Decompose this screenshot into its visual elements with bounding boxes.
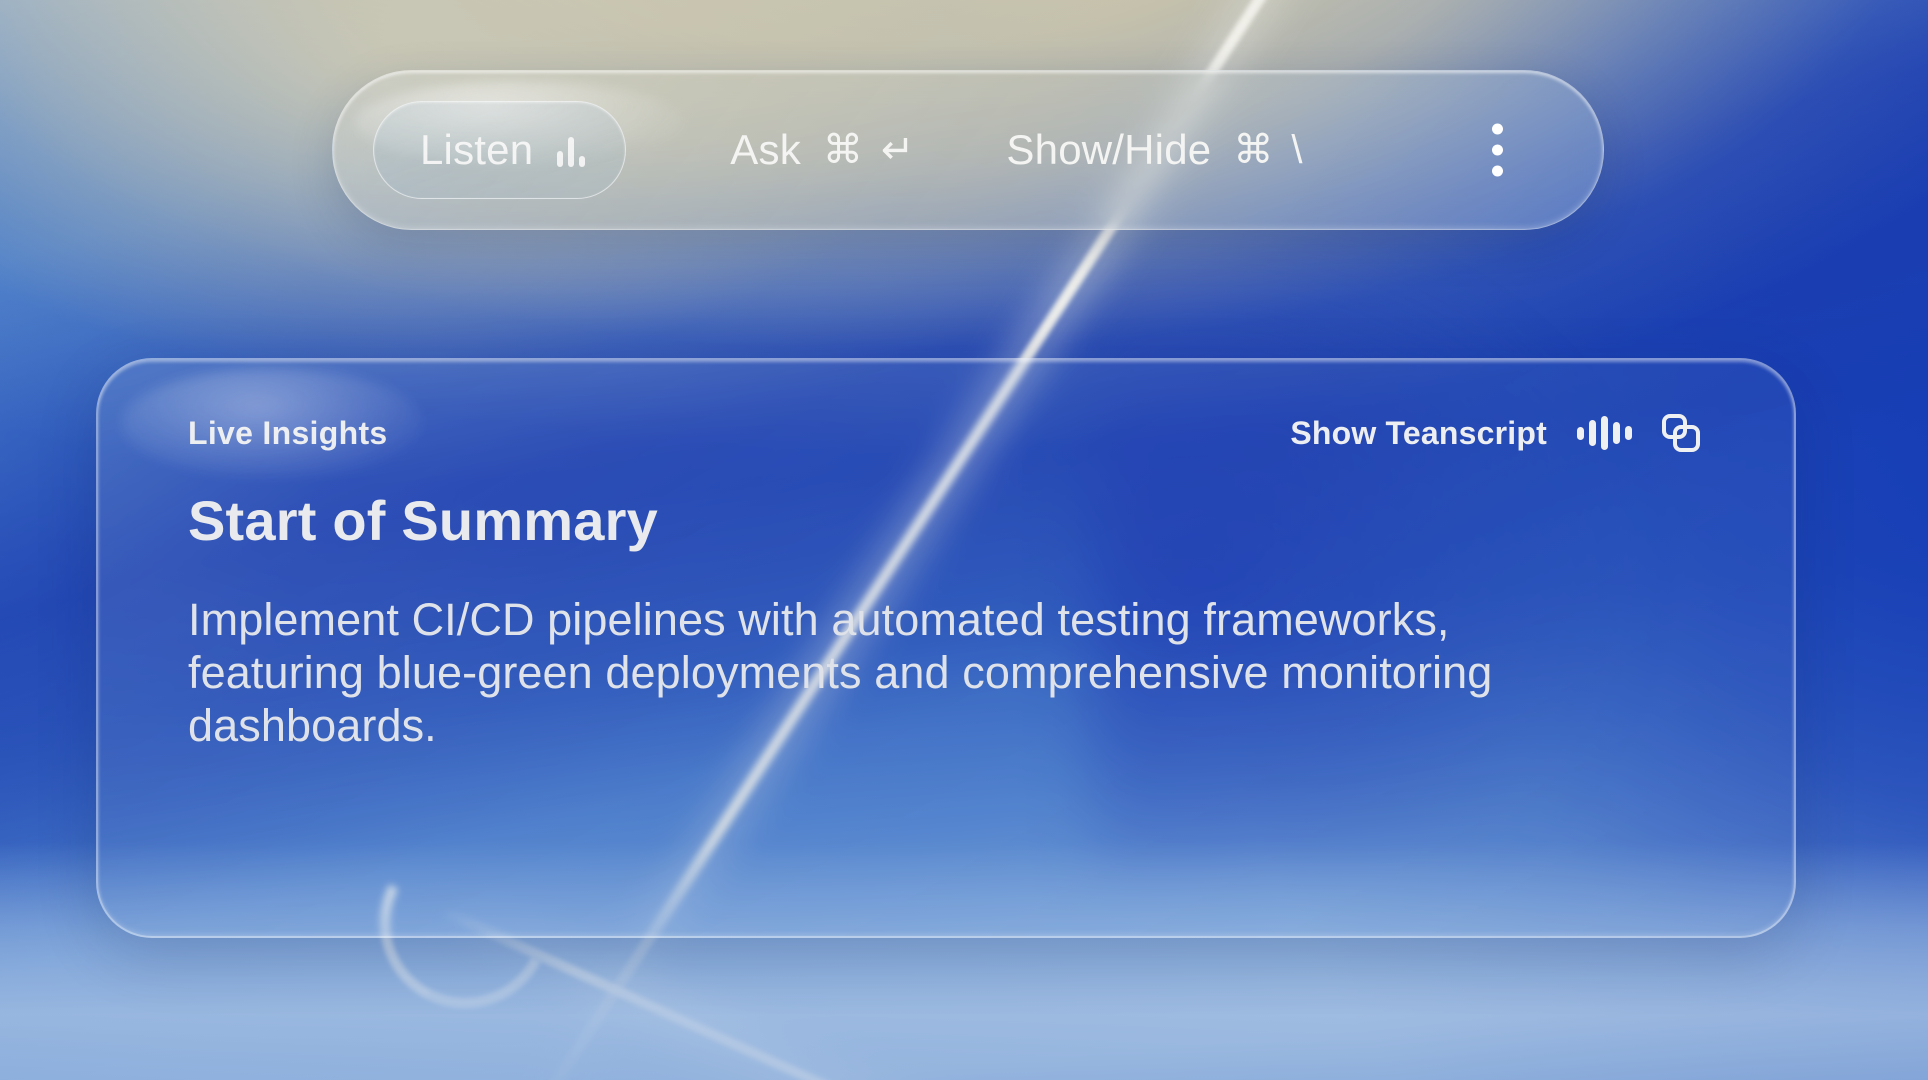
kebab-dot [1492, 166, 1503, 177]
show-hide-button[interactable]: Show/Hide ⌘ \ [1006, 126, 1302, 174]
live-insights-panel: Live Insights Show Teanscript Start of S… [96, 358, 1796, 938]
page-title: Start of Summary [188, 488, 1734, 553]
waveform-icon[interactable] [1577, 416, 1632, 450]
show-hide-shortcut: ⌘ \ [1233, 127, 1302, 173]
command-key-icon: ⌘ [1233, 127, 1273, 173]
copy-icon-front-sheet [1673, 425, 1700, 452]
kebab-menu-icon[interactable] [1484, 116, 1511, 185]
ask-button[interactable]: Ask ⌘ ↵ [730, 126, 914, 174]
panel-header-actions: Show Teanscript [1290, 414, 1734, 452]
overlay-toolbar: Listen Ask ⌘ ↵ Show/Hide ⌘ \ [332, 70, 1604, 230]
kebab-dot [1492, 145, 1503, 156]
command-key-icon: ⌘ [823, 127, 863, 173]
show-hide-label: Show/Hide [1006, 126, 1211, 174]
ask-label: Ask [730, 126, 801, 174]
backslash-key-icon: \ [1291, 128, 1302, 173]
ask-shortcut: ⌘ ↵ [823, 127, 915, 173]
copy-icon[interactable] [1662, 414, 1700, 452]
listen-button-label: Listen [420, 126, 533, 174]
panel-header: Live Insights Show Teanscript [188, 414, 1734, 452]
kebab-dot [1492, 124, 1503, 135]
summary-body-text: Implement CI/CD pipelines with automated… [188, 593, 1608, 752]
return-key-icon: ↵ [881, 127, 915, 173]
show-transcript-button[interactable]: Show Teanscript [1290, 415, 1547, 452]
listen-button[interactable]: Listen [373, 101, 626, 199]
panel-eyebrow-label: Live Insights [188, 415, 388, 452]
desktop-screen: Listen Ask ⌘ ↵ Show/Hide ⌘ \ [0, 0, 1928, 1080]
waveform-icon [557, 133, 585, 167]
